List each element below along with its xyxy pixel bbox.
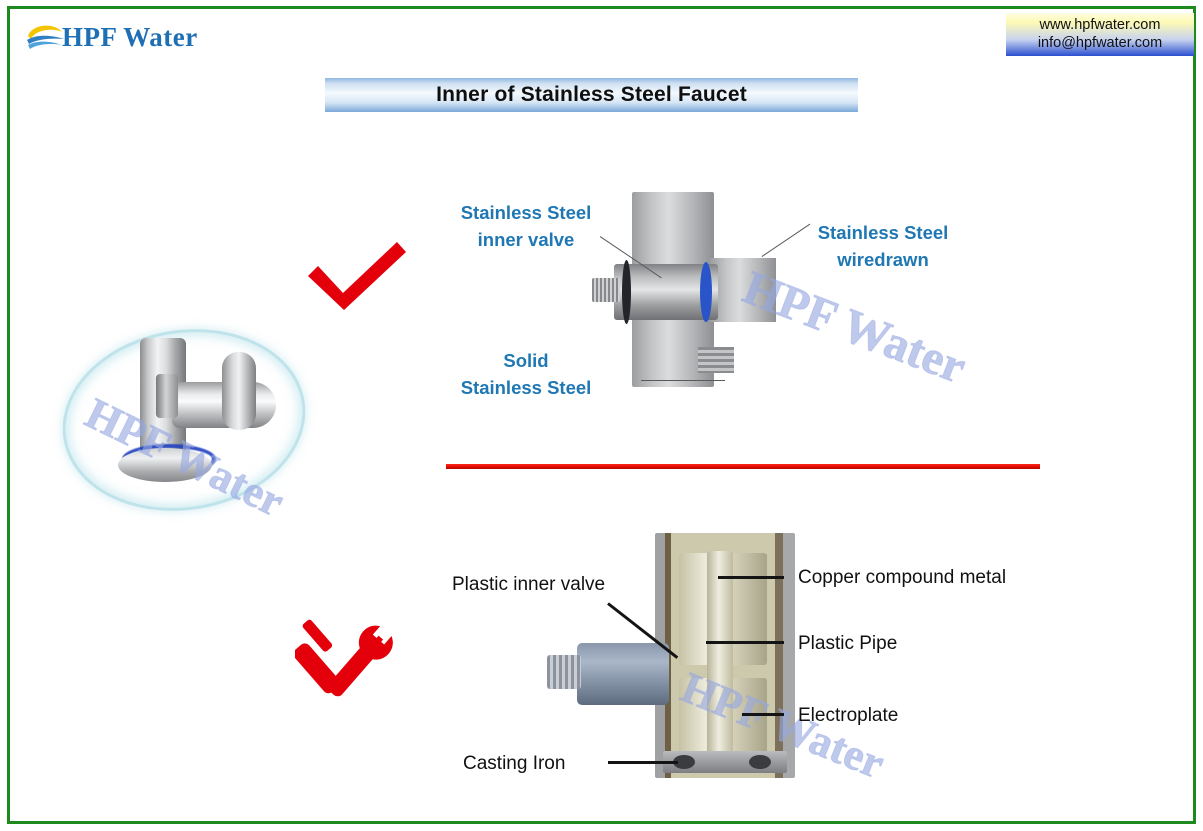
label-electroplate: Electroplate [798,702,898,730]
label-line-2: inner valve [450,227,602,254]
website-text[interactable]: www.hpfwater.com [1040,17,1161,34]
xs-threaded-stem [592,278,620,302]
label-copper-compound-metal: Copper compound metal [798,564,1006,592]
stainless-cross-section-photo [614,192,784,387]
title-banner: Inner of Stainless Steel Faucet [325,78,858,112]
xb-hole-right [749,755,771,769]
leader-solid-stainless [641,380,725,381]
faucet-handle-shape [222,352,256,430]
label-solid-stainless-steel: Solid Stainless Steel [450,348,602,402]
leader-casting-iron [608,761,678,764]
brand-logo-text: HPF Water [62,22,198,53]
red-crossed-tools-icon [295,612,405,712]
label-line-1: Stainless Steel [808,220,958,247]
xs-black-oring [622,260,631,324]
leader-copper-compound [718,576,784,579]
brand-logo: HPF Water [24,16,254,58]
faucet-base-shape [118,448,212,482]
label-casting-iron: Casting Iron [463,750,565,778]
wave-sun-logo-icon [24,20,68,54]
xs-threaded-bolt [698,347,734,373]
page-title: Inner of Stainless Steel Faucet [436,83,747,107]
label-line-2: wiredrawn [808,247,958,274]
section-divider [446,464,1040,469]
xs-side-arm [710,258,776,322]
faucet-product-photo [62,330,306,510]
label-line-1: Solid [450,348,602,375]
label-plastic-inner-valve: Plastic inner valve [452,571,605,599]
xb-valve-thread [547,655,581,689]
email-text[interactable]: info@hpfwater.com [1038,35,1162,52]
label-plastic-pipe: Plastic Pipe [798,630,897,658]
red-check-icon [302,238,412,312]
faucet-collar-shape [156,374,178,418]
leader-electroplate [742,713,784,716]
contact-info-box: www.hpfwater.com info@hpfwater.com [1006,13,1194,56]
xb-plastic-center-column [707,551,733,761]
label-line-1: Stainless Steel [450,200,602,227]
leader-plastic-pipe [706,641,784,644]
xb-plastic-valve [577,643,669,705]
label-line-2: Stainless Steel [450,375,602,402]
xs-blue-oring [700,262,712,322]
label-stainless-wiredrawn: Stainless Steel wiredrawn [808,220,958,274]
slide-page: HPF Water www.hpfwater.com info@hpfwater… [0,0,1203,831]
label-stainless-inner-valve: Stainless Steel inner valve [450,200,602,254]
